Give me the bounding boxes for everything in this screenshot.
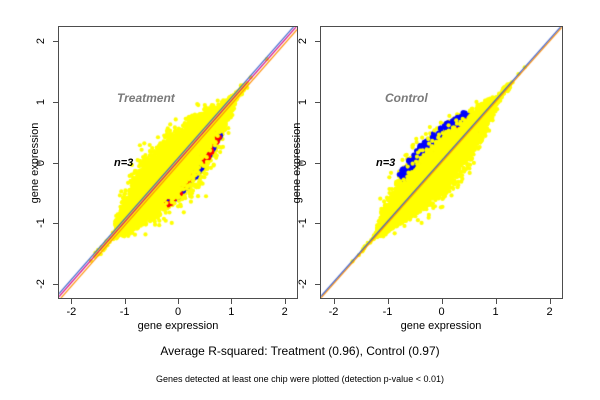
x-axis-tick-control (496, 299, 497, 304)
x-axis-tick-control (550, 299, 551, 304)
x-axis-tick-treatment (71, 299, 72, 304)
figure-root: Treatment Control n=3 n=3 gene expressio… (0, 0, 600, 400)
y-axis-tick-label-control: -2 (297, 277, 309, 291)
y-axis-tick-treatment (53, 284, 58, 285)
x-axis-tick-treatment (285, 299, 286, 304)
x-axis-tick-treatment (231, 299, 232, 304)
y-axis-tick-label-treatment: -1 (35, 216, 47, 230)
x-axis-tick-label-treatment: -1 (120, 306, 130, 318)
x-axis-tick-label-control: -2 (329, 306, 339, 318)
x-axis-tick-label-treatment: -2 (66, 306, 76, 318)
y-axis-tick-control (315, 41, 320, 42)
y-axis-tick-control (315, 284, 320, 285)
y-axis-tick-label-treatment: 0 (35, 156, 47, 170)
y-axis-tick-label-control: 0 (297, 156, 309, 170)
y-axis-tick-control (315, 102, 320, 103)
y-axis-tick-treatment (53, 223, 58, 224)
panel-title-treatment: Treatment (117, 91, 175, 105)
y-axis-tick-control (315, 223, 320, 224)
sample-size-annotation-treatment: n=3 (114, 157, 133, 169)
x-axis-tick-label-control: 0 (438, 306, 444, 318)
sample-size-annotation-control: n=3 (376, 157, 395, 169)
x-axis-title-treatment: gene expression (138, 320, 219, 332)
x-axis-tick-label-control: 2 (546, 306, 552, 318)
caption-average-r-squared: Average R-squared: Treatment (0.96), Con… (0, 344, 600, 358)
panel-title-control: Control (385, 91, 428, 105)
x-axis-tick-label-treatment: 1 (228, 306, 234, 318)
caption-detection-note: Genes detected at least one chip were pl… (0, 374, 600, 384)
x-axis-tick-label-treatment: 2 (282, 306, 288, 318)
y-axis-tick-control (315, 163, 320, 164)
y-axis-tick-label-treatment: -2 (35, 277, 47, 291)
x-axis-tick-treatment (125, 299, 126, 304)
x-axis-tick-control (442, 299, 443, 304)
y-axis-tick-label-treatment: 1 (35, 95, 47, 109)
y-axis-tick-label-treatment: 2 (35, 34, 47, 48)
y-axis-tick-treatment (53, 102, 58, 103)
x-axis-tick-control (388, 299, 389, 304)
x-axis-tick-control (334, 299, 335, 304)
y-axis-tick-label-control: 2 (297, 34, 309, 48)
y-axis-tick-label-control: 1 (297, 95, 309, 109)
x-axis-tick-label-control: -1 (383, 306, 393, 318)
x-axis-title-control: gene expression (401, 320, 482, 332)
x-axis-tick-treatment (178, 299, 179, 304)
y-axis-tick-treatment (53, 163, 58, 164)
y-axis-tick-treatment (53, 41, 58, 42)
y-axis-tick-label-control: -1 (297, 216, 309, 230)
x-axis-tick-label-treatment: 0 (175, 306, 181, 318)
x-axis-tick-label-control: 1 (492, 306, 498, 318)
